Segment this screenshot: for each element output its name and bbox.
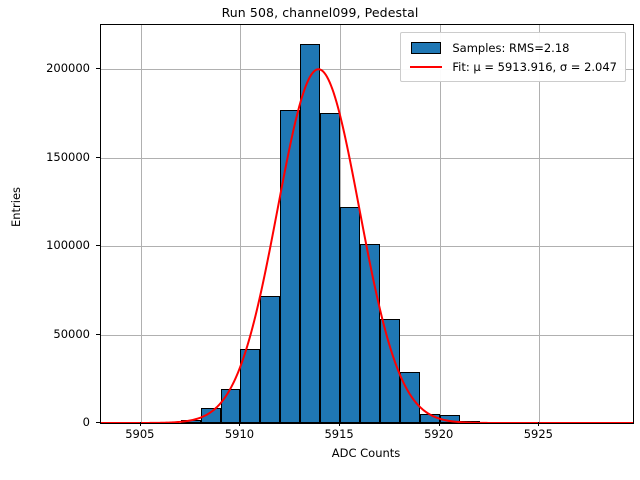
x-tick-label: 5920: [424, 427, 453, 441]
legend-line-icon: [408, 66, 444, 68]
histogram-bar: [440, 415, 460, 423]
gridline-vertical: [141, 25, 142, 423]
legend-entry-samples: Samples: RMS=2.18: [408, 38, 617, 57]
y-tick-mark: [96, 68, 100, 69]
histogram-bar: [380, 319, 400, 423]
x-tick-mark: [538, 422, 539, 426]
x-tick-label: 5925: [524, 427, 553, 441]
x-tick-mark: [339, 422, 340, 426]
histogram-bar: [460, 421, 480, 423]
legend-patch-icon: [408, 42, 444, 54]
histogram-bar: [340, 207, 360, 423]
histogram-bar: [201, 408, 221, 423]
x-tick-label: 5910: [225, 427, 254, 441]
gridline-vertical: [539, 25, 540, 423]
histogram-bar: [221, 389, 241, 423]
histogram-bar: [320, 113, 340, 423]
y-tick-mark: [96, 157, 100, 158]
histogram-bar: [300, 44, 320, 423]
chart-title: Run 508, channel099, Pedestal: [0, 5, 640, 20]
y-tick-mark: [96, 422, 100, 423]
y-tick-mark: [96, 334, 100, 335]
x-axis-label: ADC Counts: [100, 446, 632, 460]
histogram-bar: [181, 420, 201, 423]
x-tick-label: 5915: [324, 427, 353, 441]
figure-canvas: Run 508, channel099, Pedestal Samples: R…: [0, 0, 640, 480]
histogram-bar: [260, 296, 280, 423]
histogram-bar: [280, 110, 300, 423]
y-tick-mark: [96, 245, 100, 246]
histogram-bar: [240, 349, 260, 423]
histogram-bar: [400, 372, 420, 423]
gridline-vertical: [440, 25, 441, 423]
histogram-bar: [360, 244, 380, 423]
y-axis-label: Entries: [9, 107, 23, 307]
legend-entry-fit: Fit: μ = 5913.916, σ = 2.047: [408, 57, 617, 76]
legend-label-samples: Samples: RMS=2.18: [452, 41, 569, 55]
y-tick-label: 50000: [53, 327, 90, 341]
x-tick-mark: [140, 422, 141, 426]
x-tick-mark: [439, 422, 440, 426]
x-tick-mark: [239, 422, 240, 426]
gridline-horizontal: [101, 158, 633, 159]
legend-label-fit: Fit: μ = 5913.916, σ = 2.047: [452, 60, 617, 74]
histogram-bar: [420, 414, 440, 423]
y-tick-label: 150000: [46, 150, 90, 164]
y-tick-label: 200000: [46, 61, 90, 75]
y-tick-label: 0: [83, 415, 90, 429]
chart-legend: Samples: RMS=2.18 Fit: μ = 5913.916, σ =…: [400, 32, 626, 82]
y-tick-label: 100000: [46, 238, 90, 252]
x-tick-label: 5905: [125, 427, 154, 441]
plot-area: Samples: RMS=2.18 Fit: μ = 5913.916, σ =…: [100, 24, 634, 424]
